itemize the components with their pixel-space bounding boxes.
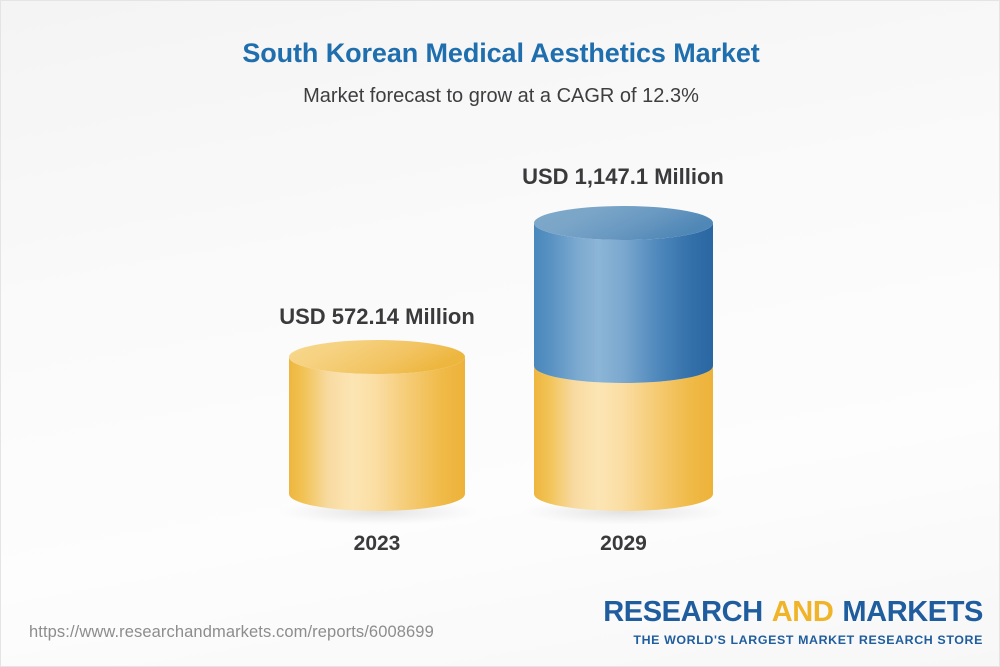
brand-logo[interactable]: RESEARCHANDMARKETS THE WORLD'S LARGEST M… xyxy=(603,598,983,646)
logo-word-and: AND xyxy=(772,596,834,628)
cylinder-segment-base-2029 xyxy=(534,366,713,511)
bar-cylinder-2029[interactable] xyxy=(534,206,713,511)
category-label-2029: 2029 xyxy=(534,532,713,556)
chart-plot-area xyxy=(1,1,1000,667)
logo-word-markets: MARKETS xyxy=(842,596,983,628)
cylinder-top-cap-2023 xyxy=(289,340,465,374)
source-url[interactable]: https://www.researchandmarkets.com/repor… xyxy=(29,623,434,642)
logo-word-research: RESEARCH xyxy=(603,596,763,628)
infographic-canvas: South Korean Medical Aesthetics Market M… xyxy=(0,0,1000,667)
bar-cylinder-2023[interactable] xyxy=(289,340,465,511)
category-label-2023: 2023 xyxy=(289,532,465,556)
value-label-2023: USD 572.14 Million xyxy=(189,304,565,330)
cylinder-segment-growth-2029 xyxy=(534,223,713,383)
value-label-2029: USD 1,147.1 Million xyxy=(435,164,811,190)
logo-wordmark: RESEARCHANDMARKETS xyxy=(603,598,983,627)
cylinder-bars-svg xyxy=(1,1,1000,667)
cylinder-top-cap-2029 xyxy=(534,206,713,240)
cylinder-body-2023 xyxy=(289,357,465,511)
logo-tagline: THE WORLD'S LARGEST MARKET RESEARCH STOR… xyxy=(603,634,983,646)
